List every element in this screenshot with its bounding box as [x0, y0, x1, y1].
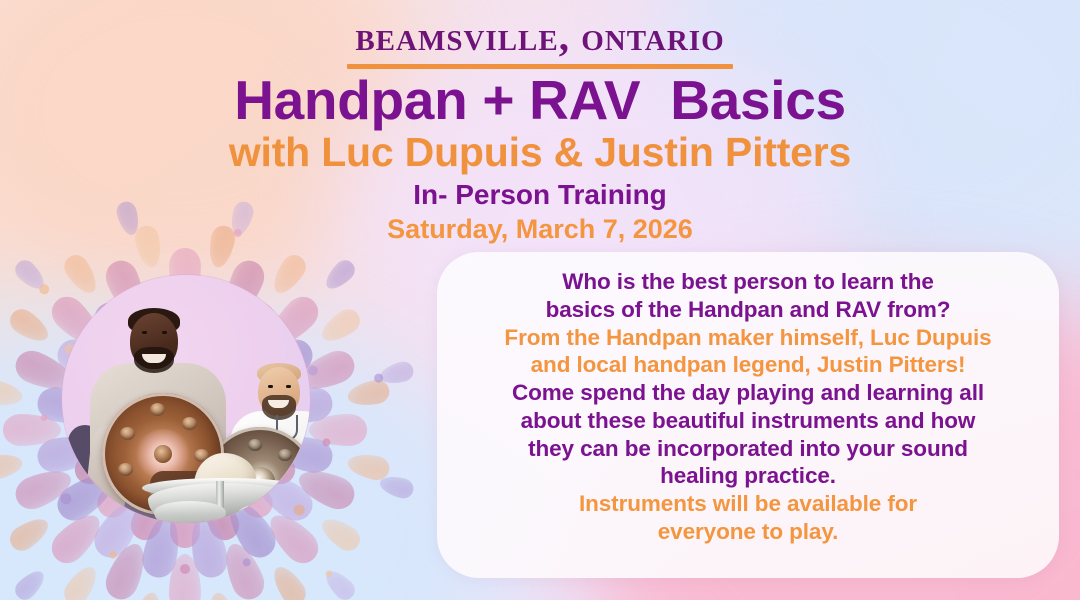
event-date: Saturday, March 7, 2026 — [0, 213, 1080, 245]
photo-person-right-eye — [268, 385, 273, 388]
mandala-petal — [321, 566, 359, 600]
card-answer: From the Handpan maker himself, Luc Dupu… — [463, 324, 1033, 380]
mandala-petal — [185, 513, 230, 580]
photo-person-left-eye — [142, 331, 147, 334]
mandala-petal — [5, 304, 53, 347]
mandala-petal — [169, 554, 201, 600]
mandala-petal — [206, 590, 238, 600]
presenters-photo — [62, 275, 310, 523]
mandala-dot — [324, 569, 334, 579]
photo-person-left-eye — [162, 331, 167, 334]
singing-bowl-small-left — [154, 501, 226, 523]
mandala-petal — [321, 256, 359, 294]
poster-title: Handpan + RAV Basics — [0, 71, 1080, 129]
mandala-petal — [309, 414, 367, 446]
mandala-dot — [37, 282, 51, 296]
location-heading: Beamsville, Ontario — [0, 0, 1080, 57]
card-question: Who is the best person to learn thebasic… — [463, 268, 1033, 324]
mandala-petal — [5, 512, 53, 555]
photo-scene — [62, 275, 310, 523]
poster-canvas: Beamsville, Ontario Handpan + RAV Basics… — [0, 0, 1080, 600]
mandala-petal — [378, 473, 416, 501]
card-closing: Instruments will be available foreveryon… — [463, 490, 1033, 546]
mandala-petal — [101, 538, 153, 600]
mandala-dot — [40, 414, 48, 422]
mandala-petal — [11, 566, 49, 600]
mandala-petal — [267, 561, 310, 600]
mandala-petal — [3, 414, 61, 446]
presenters-line: with Luc Dupuis & Justin Pitters — [0, 130, 1080, 176]
description-card: Who is the best person to learn thebasic… — [437, 252, 1059, 578]
mandala-dot — [322, 438, 331, 447]
mandala-petal — [139, 513, 184, 580]
mandala-dot — [108, 549, 119, 560]
mandala-petal — [59, 561, 102, 600]
photo-person-right-eye — [286, 385, 291, 388]
mandala-petal — [218, 538, 270, 600]
card-body: Come spend the day playing and learning … — [463, 379, 1033, 490]
mandala-petal — [0, 451, 25, 483]
mandala-dot — [241, 557, 252, 568]
mandala-petal — [345, 451, 391, 483]
mandala-petal — [11, 256, 49, 294]
singing-bowl-small-right — [238, 503, 302, 523]
mandala-petal — [0, 378, 25, 410]
mandala-dot — [373, 373, 384, 384]
mandala-petal — [378, 359, 416, 387]
training-format: In- Person Training — [0, 178, 1080, 212]
mandala-petal — [316, 304, 364, 347]
mandala-petal — [345, 378, 391, 410]
mandala-petal — [316, 512, 364, 555]
mandala-dot — [180, 564, 190, 574]
poster-header: Beamsville, Ontario Handpan + RAV Basics… — [0, 0, 1080, 245]
mandala-petal — [133, 590, 165, 600]
